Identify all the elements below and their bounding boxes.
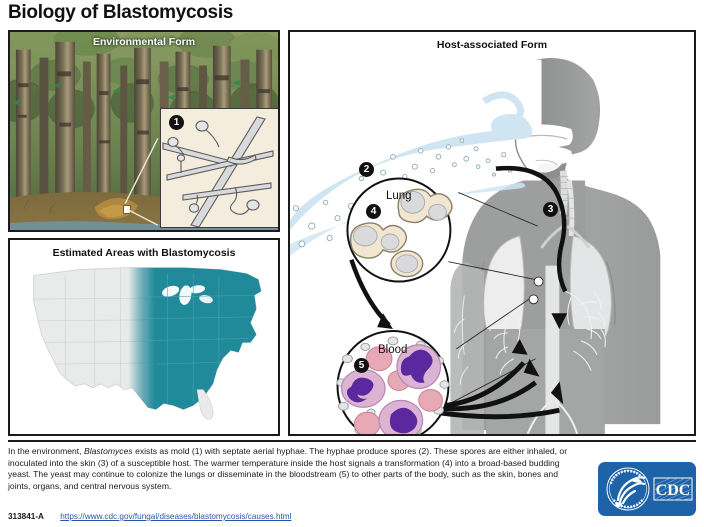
map-title: Estimated Areas with Blastomycosis <box>10 247 278 259</box>
cdc-logo-graphic: CDC <box>598 462 696 516</box>
badge-2: 2 <box>359 162 374 177</box>
hyphae-inset: 1 <box>160 108 280 228</box>
map-panel: Estimated Areas with Blastomycosis <box>8 238 280 436</box>
us-map <box>10 240 278 435</box>
host-associated-form-panel: Host-associated Form <box>288 30 696 436</box>
caption-divider <box>8 440 696 442</box>
page-title: Biology of Blastomycosis <box>8 2 233 24</box>
badge-5: 5 <box>354 358 369 373</box>
badge-1: 1 <box>169 115 184 130</box>
caption-part-1: In the environment, <box>8 446 84 456</box>
source-url-link[interactable]: https://www.cdc.gov/fungal/diseases/blas… <box>60 512 291 521</box>
environmental-form-title: Environmental Form <box>10 36 278 48</box>
badge-4: 4 <box>366 204 381 219</box>
footer-row: 313841-A https://www.cdc.gov/fungal/dise… <box>8 512 568 521</box>
human-body-silhouette <box>450 58 660 434</box>
cdc-logo-text: CDC <box>656 482 691 499</box>
document-id: 313841-A <box>8 512 44 521</box>
hhs-seal-icon <box>607 468 649 510</box>
organism-name: Blastomyces <box>84 446 133 456</box>
host-diagram <box>290 32 694 434</box>
cdc-logo: CDC <box>598 462 696 516</box>
lung-label: Lung <box>386 190 412 202</box>
blood-label: Blood <box>378 344 407 356</box>
badge-3: 3 <box>543 202 558 217</box>
host-associated-form-title: Host-associated Form <box>290 39 694 51</box>
cdc-wordmark: CDC <box>654 478 692 500</box>
caption-text: In the environment, Blastomyces exists a… <box>8 446 568 492</box>
environmental-form-panel: 1 Environmental Form <box>8 30 280 232</box>
